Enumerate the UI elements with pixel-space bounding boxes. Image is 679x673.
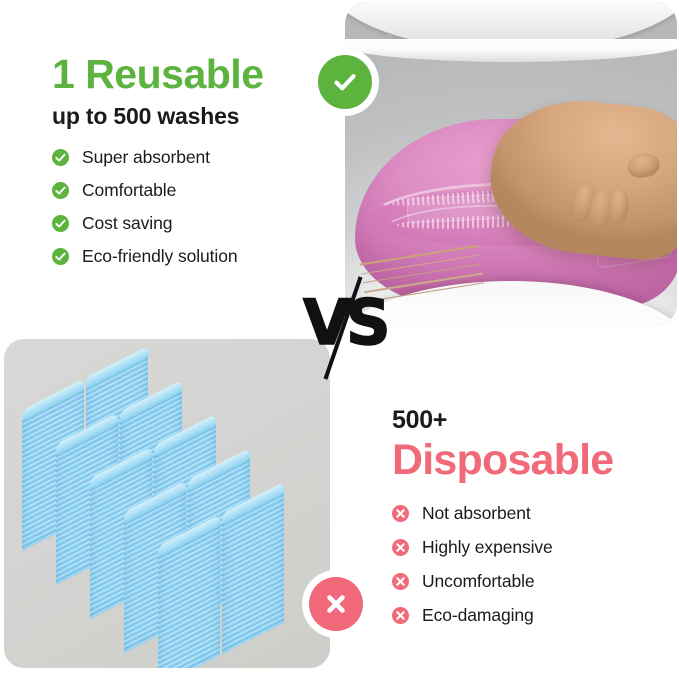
disposable-feature-list: Not absorbentHighly expensiveUncomfortab… <box>392 502 662 626</box>
list-item-label: Uncomfortable <box>422 570 535 592</box>
list-item-label: Super absorbent <box>82 146 210 168</box>
list-item-label: Not absorbent <box>422 502 531 524</box>
versus-divider: VS <box>303 292 383 366</box>
list-item: Uncomfortable <box>392 570 662 592</box>
x-circle-icon <box>392 573 409 590</box>
pad-flap <box>406 193 507 223</box>
list-item: Super absorbent <box>52 146 317 168</box>
list-item-label: Eco-damaging <box>422 604 534 626</box>
list-item-label: Cost saving <box>82 212 172 234</box>
list-item: Eco-friendly solution <box>52 245 317 267</box>
check-circle-icon <box>52 182 69 199</box>
list-item: Cost saving <box>52 212 317 234</box>
list-item: Comfortable <box>52 179 317 201</box>
x-circle-icon <box>392 607 409 624</box>
list-item: Eco-damaging <box>392 604 662 626</box>
disposable-product-photo <box>4 339 330 668</box>
disposable-heading: Disposable <box>392 436 662 484</box>
check-circle-icon <box>318 55 372 109</box>
check-circle-icon <box>52 215 69 232</box>
disposable-quantity: 500+ <box>392 406 662 434</box>
reusable-heading: 1 Reusable <box>52 52 317 96</box>
x-circle-icon <box>309 577 363 631</box>
thumb <box>626 151 662 181</box>
list-item: Highly expensive <box>392 536 662 558</box>
list-item: Not absorbent <box>392 502 662 524</box>
check-circle-icon <box>52 248 69 265</box>
list-item-label: Comfortable <box>82 179 176 201</box>
reusable-text-block: 1 Reusable up to 500 washes Super absorb… <box>52 52 317 278</box>
x-circle-icon <box>392 539 409 556</box>
reusable-subheading: up to 500 washes <box>52 102 317 130</box>
list-item-label: Highly expensive <box>422 536 553 558</box>
list-item-label: Eco-friendly solution <box>82 245 237 267</box>
machine-lid-marker <box>387 34 392 37</box>
reusable-product-photo <box>345 2 677 326</box>
check-circle-icon <box>52 149 69 166</box>
reusable-feature-list: Super absorbentComfortableCost savingEco… <box>52 146 317 267</box>
disposable-text-block: 500+ Disposable Not absorbentHighly expe… <box>392 406 662 638</box>
x-circle-icon <box>392 505 409 522</box>
